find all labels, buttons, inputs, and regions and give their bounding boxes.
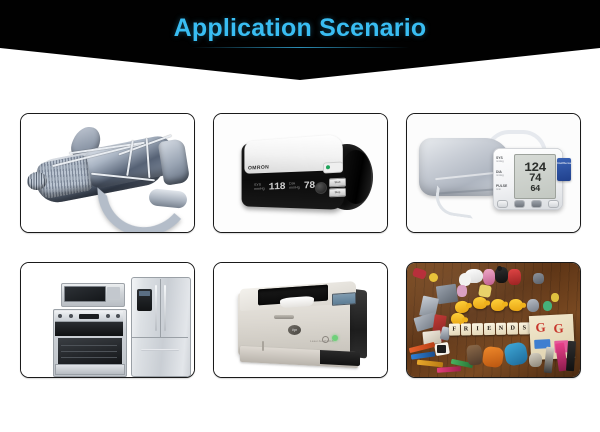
omron-brand-label: OMRON: [248, 164, 269, 171]
toy-figure: [543, 301, 552, 311]
printer-front-cover-handle: [274, 315, 294, 319]
title-underline: [190, 47, 410, 48]
book-letter: G: [553, 320, 564, 337]
omron-display: SYSmmHg 118 DIAmmHg 78: [254, 179, 310, 195]
gallery-cell-turbine-engine[interactable]: [20, 113, 195, 233]
letter-tile: E: [484, 323, 495, 335]
toy-figure-ear: [497, 266, 502, 271]
toy-stick: [544, 347, 555, 374]
dispenser-display: [139, 291, 150, 296]
laser-printer-image: hp LaserJet P3015: [214, 263, 387, 377]
bp-monitor-image: SYS mmHg DIA mmHg PULSE /min 124 74 6: [407, 114, 580, 232]
toy-figure: [483, 269, 495, 285]
printer-drawer-slot: [262, 341, 264, 351]
letter-tile: I: [472, 323, 483, 335]
refrigerator-freezer-split: [132, 337, 188, 338]
toy-duck: [508, 298, 523, 311]
bp-button-start: [531, 200, 542, 208]
gallery-cell-laser-printer[interactable]: hp LaserJet P3015: [213, 262, 388, 378]
crayon: [437, 366, 461, 373]
bp-technology-badge: IntelliSense: [557, 158, 571, 181]
oven-rack: [61, 357, 117, 358]
toy-figure: [466, 344, 483, 365]
omron-systolic-value: 118: [269, 181, 286, 193]
book-letter: G: [535, 319, 546, 336]
omron-certification-badge: [323, 161, 343, 173]
range-knob: [69, 314, 73, 318]
oven-rack: [61, 351, 117, 352]
letter-tile: R: [461, 323, 472, 335]
omron-start-button: Start: [329, 178, 346, 188]
refrigerator-door-split: [160, 279, 161, 337]
toy-duck: [491, 299, 506, 312]
toy-figure: [529, 353, 542, 367]
toy-duck: [473, 297, 488, 310]
toys-flatlay-image: F R I E N D S G G: [407, 263, 580, 377]
crayon: [566, 341, 576, 371]
gallery-cell-bp-monitor[interactable]: SYS mmHg DIA mmHg PULSE /min 124 74 6: [406, 113, 581, 233]
range-knob: [58, 314, 62, 318]
bp-diastolic-value: 74: [529, 174, 541, 185]
toy-card-art: [437, 345, 446, 353]
bp-button-left: [497, 200, 508, 208]
omron-monitor-image: OMRON SYSmmHg 118 DIAmmHg 78 Start Stop: [214, 114, 387, 232]
bp-sys-unit: mmHg: [496, 160, 513, 163]
bp-pulse-label: PULSE /min: [496, 184, 513, 191]
hp-logo: hp: [288, 325, 301, 335]
bp-systolic-value: 124: [524, 161, 546, 174]
range-display: [79, 314, 99, 319]
toy-figure: [551, 293, 559, 302]
bp-lcd-labels: SYS mmHg DIA mmHg PULSE /min: [496, 156, 513, 199]
bp-button-row: [497, 200, 559, 208]
range-control-panel: [55, 311, 123, 322]
toy-figure: [533, 273, 544, 284]
letter-tile-row: F R I E N D S: [449, 322, 530, 335]
printer-power-button: [322, 336, 329, 343]
crayon: [417, 360, 443, 368]
range-storage-drawer: [55, 364, 125, 375]
printer-drawer-side: [320, 350, 360, 366]
letter-tile: N: [496, 323, 507, 335]
slide-root: Application Scenario: [0, 0, 600, 432]
oven-rack: [61, 345, 117, 346]
omron-stop-button: Stop: [329, 188, 346, 198]
omron-dia-unit: DIAmmHg: [289, 183, 300, 191]
turbine-engine-image: [21, 114, 194, 232]
microwave-door: [64, 286, 106, 302]
printer-control-display: [332, 292, 356, 306]
omron-sys-unit: SYSmmHg: [254, 184, 265, 192]
bp-lcd-screen: 124 74 64: [514, 154, 556, 199]
bp-dia-label: DIA mmHg: [496, 170, 513, 177]
bp-pulse-unit: /min: [496, 188, 513, 191]
bp-button-memory: [514, 200, 525, 208]
toy-piece: [429, 273, 438, 282]
bp-sys-label: SYS mmHg: [496, 156, 513, 163]
bp-button-right: [548, 200, 559, 208]
bp-pulse-value: 64: [530, 185, 540, 194]
letter-tile: F: [449, 324, 460, 336]
omron-diastolic-value: 78: [304, 180, 315, 191]
lego-brick: [436, 284, 458, 305]
toy-dinosaur: [482, 346, 505, 369]
printer-ready-led: [332, 335, 338, 341]
kitchen-appliances-image: [21, 263, 194, 377]
toy-elephant: [527, 299, 539, 312]
engine-exhaust-section: [158, 138, 191, 186]
bp-dia-unit: mmHg: [496, 174, 513, 177]
gallery-cell-kitchen-appliances[interactable]: [20, 262, 195, 378]
toy-dragon: [503, 341, 528, 366]
toy-figure: [508, 269, 521, 285]
gallery-cell-omron-monitor[interactable]: OMRON SYSmmHg 118 DIAmmHg 78 Start Stop: [213, 113, 388, 233]
page-title: Application Scenario: [0, 14, 600, 43]
letter-tile: D: [507, 323, 518, 335]
range-knob: [116, 314, 120, 318]
microwave-control-panel: [107, 287, 120, 299]
scenario-gallery: OMRON SYSmmHg 118 DIAmmHg 78 Start Stop: [20, 113, 581, 378]
toy-figure: [457, 285, 467, 297]
range-knob: [106, 314, 110, 318]
bp-air-tube: [433, 185, 477, 218]
gallery-cell-toys-flatlay[interactable]: F R I E N D S G G: [406, 262, 581, 378]
range-cooktop: [55, 322, 123, 336]
toy-figure: [478, 284, 492, 298]
crayon: [411, 351, 435, 359]
toy-piece: [412, 267, 427, 280]
letter-tile: S: [519, 322, 530, 334]
